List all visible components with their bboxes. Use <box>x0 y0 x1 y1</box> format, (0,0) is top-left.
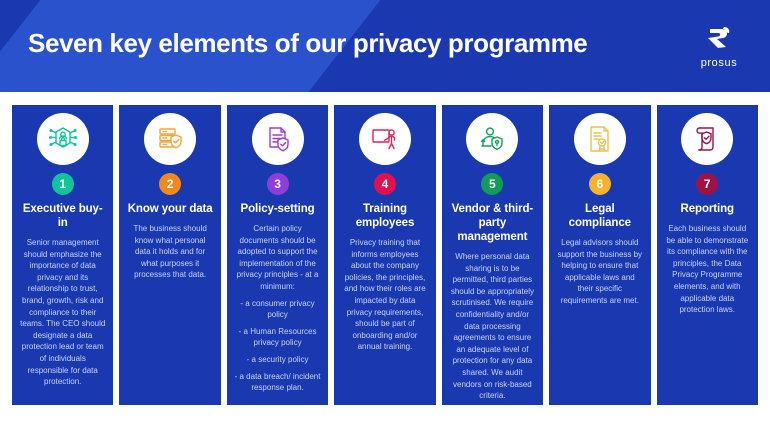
card-body-2: The business should know what personal d… <box>126 223 213 281</box>
card-paragraph: - a Human Resources privacy policy <box>234 326 321 349</box>
trainer-whiteboard-icon <box>359 113 411 165</box>
legal-document-stamp-icon <box>574 113 626 165</box>
element-card-5[interactable]: 5 Vendor & third-party management Where … <box>442 105 543 405</box>
card-paragraph: Legal advisors should support the busine… <box>556 237 643 307</box>
card-body-1: Senior management should emphasize the i… <box>19 237 106 388</box>
elements-card-row: 1 Executive buy-in Senior management sho… <box>12 105 758 405</box>
infographic-page: Seven key elements of our privacy progra… <box>0 0 770 433</box>
card-body-5: Where personal data sharing is to be per… <box>449 251 536 402</box>
page-header: Seven key elements of our privacy progra… <box>0 0 770 92</box>
brand-logo: prosus <box>690 24 748 69</box>
prosus-logo-icon <box>690 24 748 54</box>
card-title-3: Policy-setting <box>235 202 320 216</box>
step-number-6: 6 <box>589 173 611 195</box>
element-card-3[interactable]: 3 Policy-setting Certain policy document… <box>227 105 328 405</box>
element-card-7[interactable]: 7 Reporting Each business should be able… <box>657 105 758 405</box>
card-body-6: Legal advisors should support the busine… <box>556 237 643 307</box>
card-title-1: Executive buy-in <box>20 202 105 230</box>
card-paragraph: Where personal data sharing is to be per… <box>449 251 536 402</box>
server-shield-check-icon <box>144 113 196 165</box>
card-title-6: Legal compliance <box>557 202 642 230</box>
element-card-2[interactable]: 2 Know your data The business should kno… <box>119 105 220 405</box>
card-title-5: Vendor & third-party management <box>450 202 535 244</box>
step-number-4: 4 <box>374 173 396 195</box>
card-paragraph: The business should know what personal d… <box>126 223 213 281</box>
step-number-3: 3 <box>267 173 289 195</box>
card-paragraph: Privacy training that informs employees … <box>341 237 428 353</box>
person-lock-vendor-icon <box>466 113 518 165</box>
card-paragraph: Each business should be able to demonstr… <box>664 223 751 316</box>
step-number-5: 5 <box>481 173 503 195</box>
element-card-1[interactable]: 1 Executive buy-in Senior management sho… <box>12 105 113 405</box>
document-shield-check-icon <box>252 113 304 165</box>
element-card-4[interactable]: 4 Training employees Privacy training th… <box>334 105 435 405</box>
step-number-2: 2 <box>159 173 181 195</box>
element-card-6[interactable]: 6 Legal compliance Legal advisors should… <box>549 105 650 405</box>
network-person-lock-icon <box>37 113 89 165</box>
page-title: Seven key elements of our privacy progra… <box>28 28 587 59</box>
step-number-7: 7 <box>696 173 718 195</box>
step-number-1: 1 <box>52 173 74 195</box>
card-paragraph: - a consumer privacy policy <box>234 298 321 321</box>
card-body-4: Privacy training that informs employees … <box>341 237 428 353</box>
brand-name: prosus <box>690 57 748 69</box>
card-paragraph: - a security policy <box>234 354 321 366</box>
card-body-3: Certain policy documents should be adopt… <box>234 223 321 394</box>
report-scroll-shield-icon <box>681 113 733 165</box>
card-title-4: Training employees <box>342 202 427 230</box>
card-title-7: Reporting <box>665 202 750 216</box>
card-paragraph: Senior management should emphasize the i… <box>19 237 106 388</box>
card-paragraph: Certain policy documents should be adopt… <box>234 223 321 293</box>
card-body-7: Each business should be able to demonstr… <box>664 223 751 316</box>
card-title-2: Know your data <box>127 202 212 216</box>
card-paragraph: - a data breach/ incident response plan. <box>234 371 321 394</box>
